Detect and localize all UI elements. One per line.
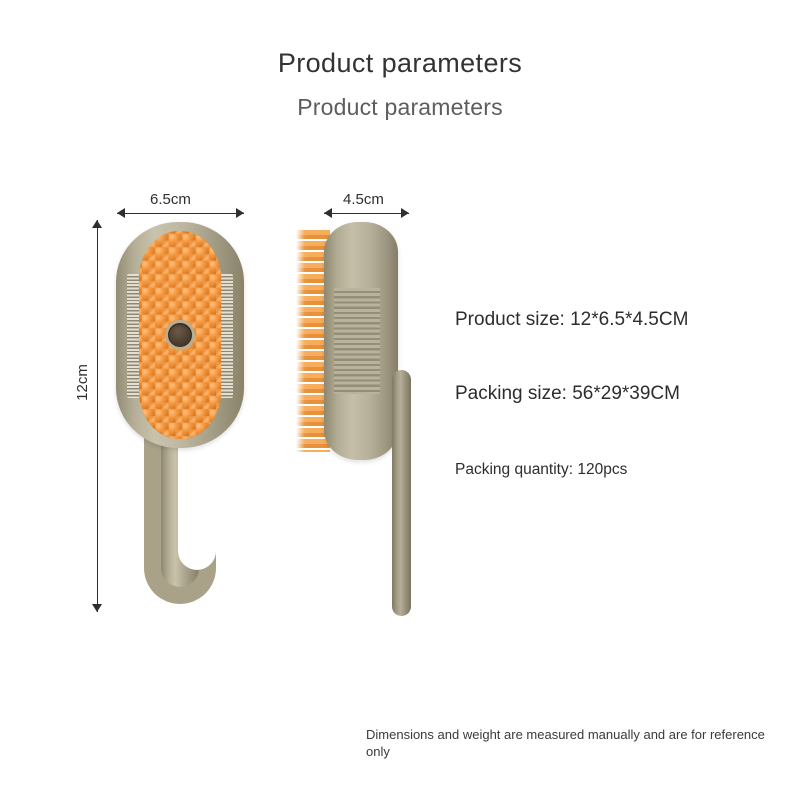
product-side-view <box>296 222 446 622</box>
steam-outlet-hole <box>168 323 192 347</box>
comb-teeth-right <box>220 274 233 398</box>
product-side-body <box>324 222 398 460</box>
measurement-disclaimer: Dimensions and weight are measured manua… <box>366 726 776 760</box>
arrow-shaft <box>324 213 409 214</box>
dimension-arrow-side-width <box>324 208 409 219</box>
product-front-view <box>116 222 244 612</box>
spec-packing-quantity: Packing quantity: 120pcs <box>455 461 627 479</box>
dimension-arrow-height <box>92 220 103 612</box>
page-title: Product parameters <box>0 48 800 79</box>
spec-product-size: Product size: 12*6.5*4.5CM <box>455 309 688 331</box>
spec-packing-size: Packing size: 56*29*39CM <box>455 383 680 405</box>
product-side-ribs <box>334 288 380 394</box>
arrow-head-right-icon <box>401 208 409 218</box>
arrow-head-right-icon <box>236 208 244 218</box>
product-side-handle <box>392 370 411 616</box>
product-brush-head <box>116 222 244 448</box>
dimension-label-front-width: 6.5cm <box>150 191 191 208</box>
arrow-shaft <box>117 213 244 214</box>
arrow-head-down-icon <box>92 604 102 612</box>
dimension-label-side-width: 4.5cm <box>343 191 384 208</box>
dimension-arrow-front-width <box>117 208 244 219</box>
page-subtitle: Product parameters <box>0 94 800 121</box>
dimension-label-height: 12cm <box>74 364 91 401</box>
arrow-shaft <box>97 220 98 612</box>
